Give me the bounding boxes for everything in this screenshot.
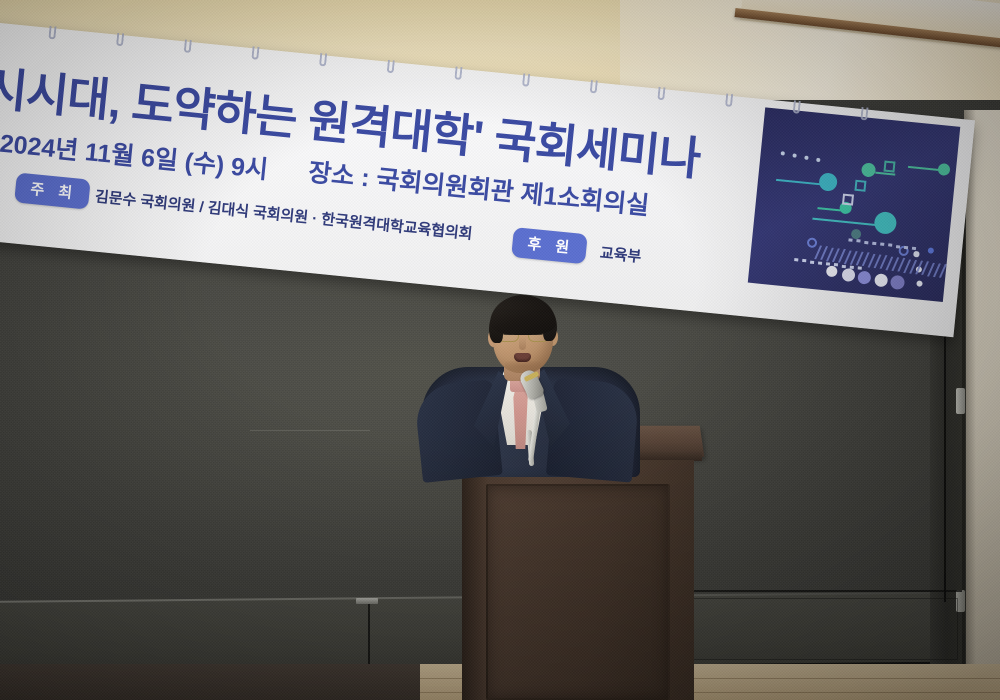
deco-dash — [842, 264, 846, 267]
banner-hook-icon — [590, 80, 598, 94]
deco-dot — [804, 155, 809, 160]
hair-top — [490, 295, 556, 335]
deco-dash — [810, 260, 814, 263]
banner-hook-icon — [860, 107, 868, 121]
deco-dash — [858, 266, 862, 269]
deco-dot — [873, 211, 897, 235]
sponsor-badge: 후 원 — [511, 227, 587, 264]
deco-dash — [802, 259, 806, 262]
deco-dot — [825, 265, 837, 277]
banner-hook-icon — [116, 33, 124, 47]
wall-panel-inset — [680, 598, 958, 660]
banner-hook-icon — [657, 87, 665, 101]
deco-dot — [890, 275, 905, 290]
host-badge: 주 최 — [14, 172, 90, 209]
deco-dot — [861, 162, 876, 177]
nose — [519, 337, 526, 350]
deco-dot — [914, 251, 920, 257]
banner-hook-icon — [251, 46, 259, 60]
deco-square — [883, 161, 895, 173]
deco-dot — [927, 247, 934, 254]
deco-dash — [872, 241, 876, 244]
deco-dot — [816, 157, 821, 162]
deco-dot — [874, 273, 888, 287]
deco-ring — [807, 237, 818, 248]
floor-shadow-left — [0, 664, 420, 700]
deco-dot — [792, 153, 797, 158]
mouth — [514, 353, 531, 362]
photo-scene: 시시대, 도약하는 원격대학' 국회세미나 2024년 11월 6일 (수) 9… — [0, 0, 1000, 700]
deco-dash — [850, 265, 854, 268]
deco-dot — [937, 163, 950, 176]
door-handle-icon — [956, 388, 965, 414]
wall-seam-hint — [250, 430, 370, 431]
banner-hook-icon — [319, 53, 327, 67]
podium-shadow — [462, 460, 488, 700]
banner-hook-icon — [184, 39, 192, 53]
deco-dash — [826, 262, 830, 265]
wall-bracket — [356, 598, 378, 604]
banner-hook-icon — [793, 100, 801, 114]
deco-dash — [794, 258, 798, 261]
deco-dash — [864, 240, 868, 243]
deco-dot — [780, 151, 785, 156]
chin-shadow — [505, 361, 541, 371]
deco-dash — [896, 245, 900, 248]
deco-dash — [834, 263, 838, 266]
deco-dot — [818, 172, 838, 192]
deco-dash — [818, 261, 822, 264]
banner-hook-icon — [725, 93, 733, 107]
deco-dash — [848, 238, 852, 241]
deco-dash — [888, 244, 892, 247]
banner-hook-icon — [454, 66, 462, 80]
banner-hook-icon — [48, 26, 56, 40]
deco-dot — [916, 280, 923, 287]
deco-square — [854, 180, 866, 192]
sponsor-name: 교육부 — [599, 242, 642, 267]
deco-square — [842, 194, 854, 206]
deco-bar — [939, 264, 947, 278]
banner-hook-icon — [387, 60, 395, 74]
podium-front-panel — [486, 484, 670, 700]
wall-vertical-seam — [368, 602, 370, 668]
wall-panel-top-edge — [672, 590, 962, 592]
deco-dash — [880, 243, 884, 246]
deco-dash — [904, 246, 908, 249]
deco-dot — [857, 270, 871, 284]
deco-dot — [841, 267, 855, 281]
banner-hook-icon — [522, 73, 530, 87]
deco-dash — [912, 247, 916, 250]
deco-dash — [856, 239, 860, 242]
